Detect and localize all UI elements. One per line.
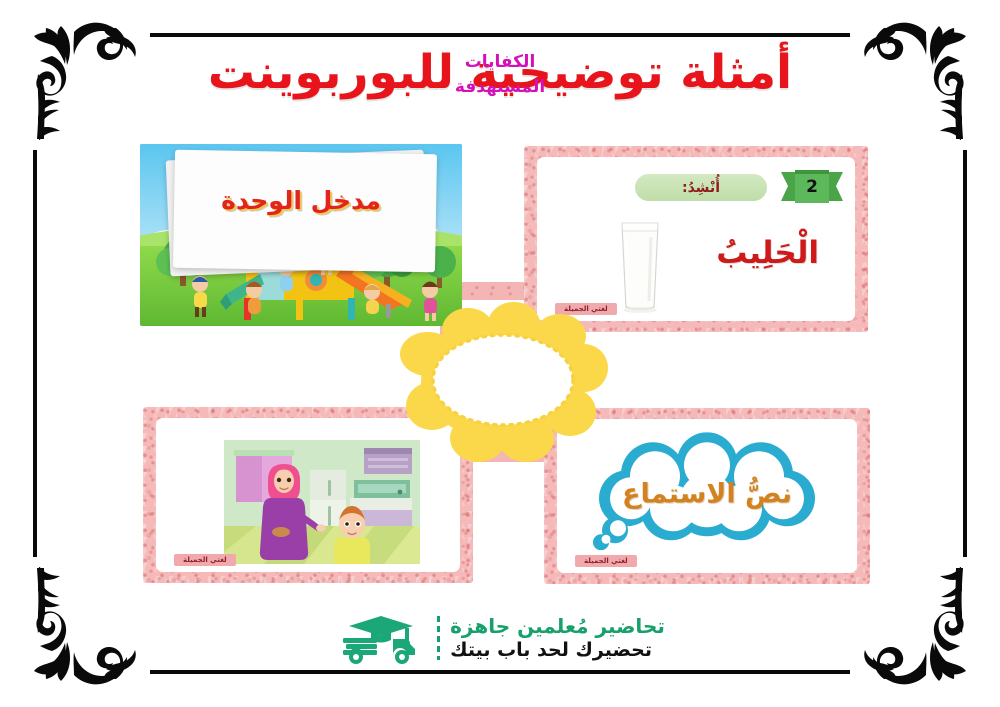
page-title: أمثلة توضيحية للبوربوينت xyxy=(0,47,1000,99)
delivery-truck-graduation-cap-icon xyxy=(335,610,427,666)
milk-word: الْحَلِيبُ xyxy=(716,235,819,271)
listening-text-label: نصُّ الاستماع xyxy=(557,479,857,510)
brand-logo: تحاضير مُعلمين جاهزة تحضيرك لحد باب بيتك xyxy=(0,603,1000,673)
slide-footer-badge: لغتي الجميلة xyxy=(174,554,236,566)
slide-footer-badge: لغتي الجميلة xyxy=(575,555,637,567)
brand-line-1: تحاضير مُعلمين جاهزة xyxy=(450,615,665,639)
kitchen-illustration xyxy=(224,440,420,564)
ribbon-number: 2 xyxy=(781,170,843,203)
ansheedu-pill: أُنْشِدُ: xyxy=(635,174,767,201)
ribbon-badge: 2 xyxy=(781,170,843,203)
frame-line-left xyxy=(33,150,37,557)
brand-text: تحاضير مُعلمين جاهزة تحضيرك لحد باب بيتك xyxy=(450,615,665,661)
slide-1-heading: مدخل الوحدة xyxy=(140,186,462,215)
poster-page: أمثلة توضيحية للبوربوينت xyxy=(0,0,1000,707)
logo-divider xyxy=(437,616,440,660)
glass-of-milk-icon xyxy=(613,215,667,315)
frame-line-top xyxy=(150,33,850,37)
brand-line-2: تحضيرك لحد باب بيتك xyxy=(450,639,652,661)
frame-line-right xyxy=(963,150,967,557)
center-flower-badge xyxy=(398,296,608,468)
